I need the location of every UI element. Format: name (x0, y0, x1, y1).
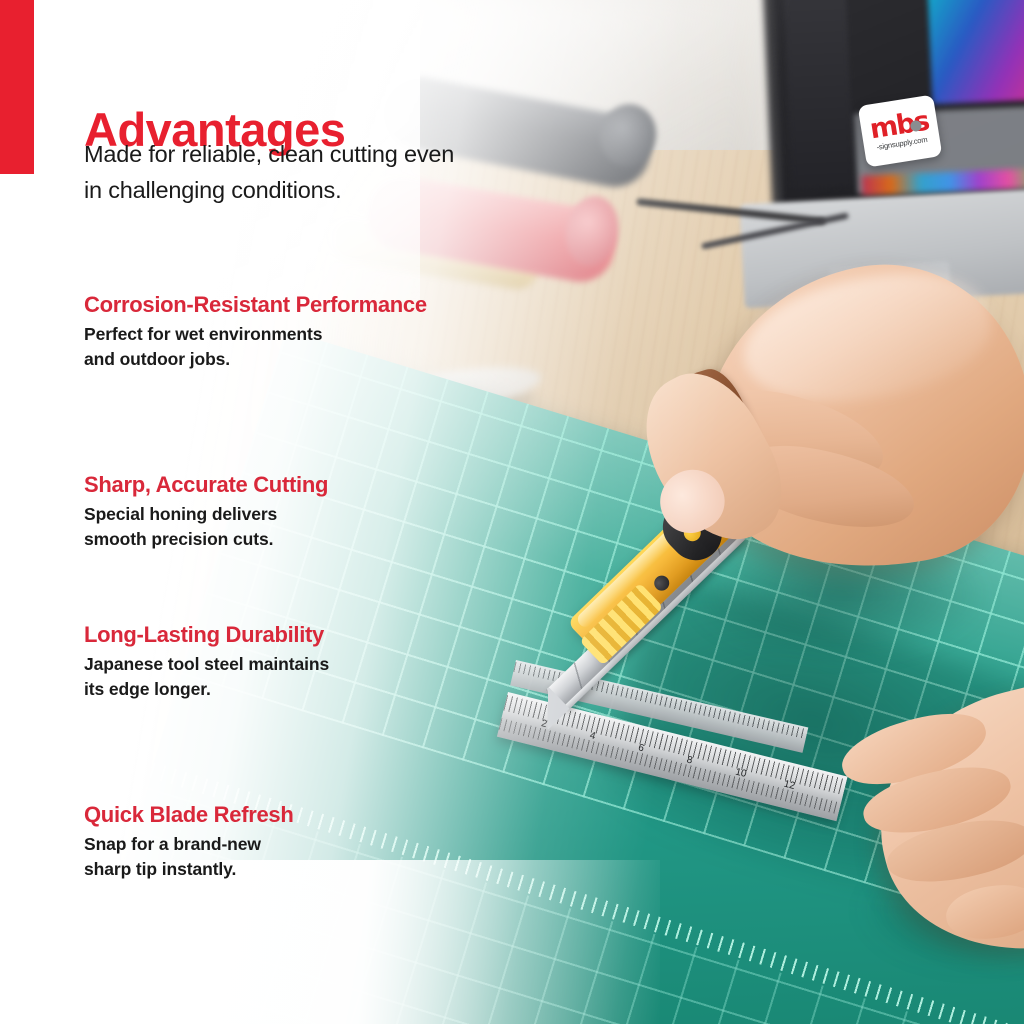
advantages-promo-graphic: 2 4 6 8 10 12 (0, 0, 1024, 1024)
feature-body-line-2: its edge longer. (84, 677, 554, 702)
feature-block-sharp-cutting: Sharp, Accurate Cutting Special honing d… (84, 472, 554, 552)
feature-heading: Long-Lasting Durability (84, 622, 554, 647)
feature-block-corrosion-resistant: Corrosion-Resistant Performance Perfect … (84, 292, 554, 372)
feature-body-line-2: smooth precision cuts. (84, 527, 554, 552)
red-accent-bar (0, 0, 34, 174)
feature-heading: Sharp, Accurate Cutting (84, 472, 554, 497)
feature-heading: Corrosion-Resistant Performance (84, 292, 554, 317)
white-fade-bottom (0, 860, 660, 1024)
subtitle-line-2: in challenging conditions. (84, 172, 604, 208)
feature-body-line-1: Perfect for wet environments (84, 322, 554, 347)
feature-body-line-2: and outdoor jobs. (84, 347, 554, 372)
feature-body-line-1: Japanese tool steel maintains (84, 652, 554, 677)
feature-body-line-1: Snap for a brand-new (84, 832, 554, 857)
mbs-signsupply-logo[interactable]: mbs -signsupply.com (858, 94, 943, 167)
feature-body-line-2: sharp tip instantly. (84, 857, 554, 882)
feature-block-durability: Long-Lasting Durability Japanese tool st… (84, 622, 554, 702)
logo-wordmark: mbs (868, 109, 930, 142)
feature-block-blade-refresh: Quick Blade Refresh Snap for a brand-new… (84, 802, 554, 882)
feature-body-line-1: Special honing delivers (84, 502, 554, 527)
feature-heading: Quick Blade Refresh (84, 802, 554, 827)
page-subtitle: Made for reliable, clean cutting even in… (84, 136, 604, 209)
subtitle-line-1: Made for reliable, clean cutting even (84, 136, 604, 172)
